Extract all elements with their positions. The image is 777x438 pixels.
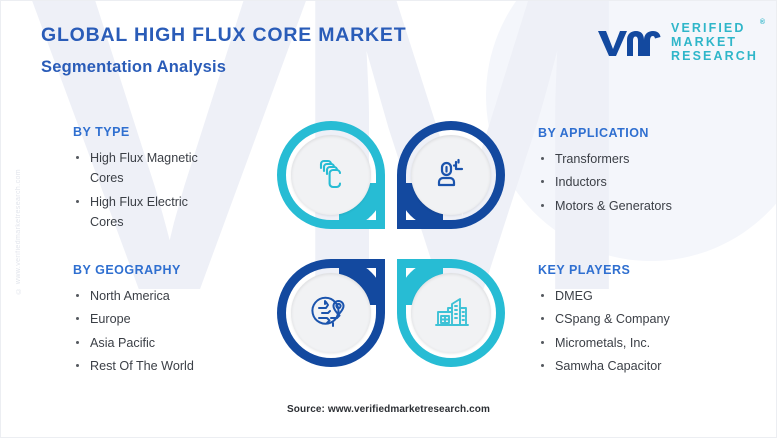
- buildings-icon: [429, 291, 473, 335]
- section-by-application: BY APPLICATION Transformers Inductors Mo…: [538, 126, 768, 219]
- list-item: Micrometals, Inc.: [538, 333, 768, 353]
- segmentation-infographic: VM © www.verifiedmarketresearch.com GLOB…: [0, 0, 777, 438]
- list-item: DMEG: [538, 286, 768, 306]
- list-item: CSpang & Company: [538, 309, 768, 329]
- petal-by-type: [277, 121, 385, 229]
- section-list-by-geography: North America Europe Asia Pacific Rest O…: [73, 286, 263, 377]
- petal-key-players: [397, 259, 505, 367]
- petal-by-geography: [277, 259, 385, 367]
- section-by-geography: BY GEOGRAPHY North America Europe Asia P…: [73, 263, 263, 380]
- section-heading-key-players: KEY PLAYERS: [538, 263, 768, 277]
- list-item: High Flux Magnetic Cores: [73, 148, 263, 189]
- petal-disc: [291, 135, 371, 215]
- registered-trademark-icon: ®: [760, 19, 765, 27]
- list-item: Europe: [73, 309, 263, 329]
- section-by-type: BY TYPE High Flux Magnetic Cores High Fl…: [73, 125, 263, 236]
- center-icon-cluster: [275, 119, 507, 369]
- list-item: North America: [73, 286, 263, 306]
- source-credit: Source: www.verifiedmarketresearch.com: [1, 404, 776, 415]
- section-key-players: KEY PLAYERS DMEG CSpang & Company Microm…: [538, 263, 768, 380]
- petal-disc: [291, 273, 371, 353]
- section-heading-by-type: BY TYPE: [73, 125, 263, 139]
- list-item: Asia Pacific: [73, 333, 263, 353]
- list-item: Motors & Generators: [538, 196, 768, 216]
- logo-line-1: VERIFIED: [671, 21, 758, 35]
- list-item: Samwha Capacitor: [538, 356, 768, 376]
- verified-market-research-logo: VERIFIED MARKET RESEARCH ®: [596, 21, 758, 63]
- side-copyright-text: © www.verifiedmarketresearch.com: [15, 169, 22, 294]
- list-item: Transformers: [538, 149, 768, 169]
- section-list-by-type: High Flux Magnetic Cores High Flux Elect…: [73, 148, 263, 233]
- vmr-monogram-icon: [596, 25, 662, 59]
- petal-disc: [411, 273, 491, 353]
- logo-line-3: RESEARCH: [671, 49, 758, 63]
- section-list-key-players: DMEG CSpang & Company Micrometals, Inc. …: [538, 286, 768, 377]
- section-list-by-application: Transformers Inductors Motors & Generato…: [538, 149, 768, 216]
- logo-line-2: MARKET: [671, 35, 758, 49]
- list-item: High Flux Electric Cores: [73, 192, 263, 233]
- petal-by-application: [397, 121, 505, 229]
- logo-wordmark: VERIFIED MARKET RESEARCH ®: [671, 21, 758, 63]
- globe-location-pin-icon: [308, 290, 354, 336]
- list-item: Inductors: [538, 172, 768, 192]
- list-item: Rest Of The World: [73, 356, 263, 376]
- section-heading-by-geography: BY GEOGRAPHY: [73, 263, 263, 277]
- petal-disc: [411, 135, 491, 215]
- section-heading-by-application: BY APPLICATION: [538, 126, 768, 140]
- stacked-cores-icon: [309, 153, 353, 197]
- user-application-icon: [429, 153, 473, 197]
